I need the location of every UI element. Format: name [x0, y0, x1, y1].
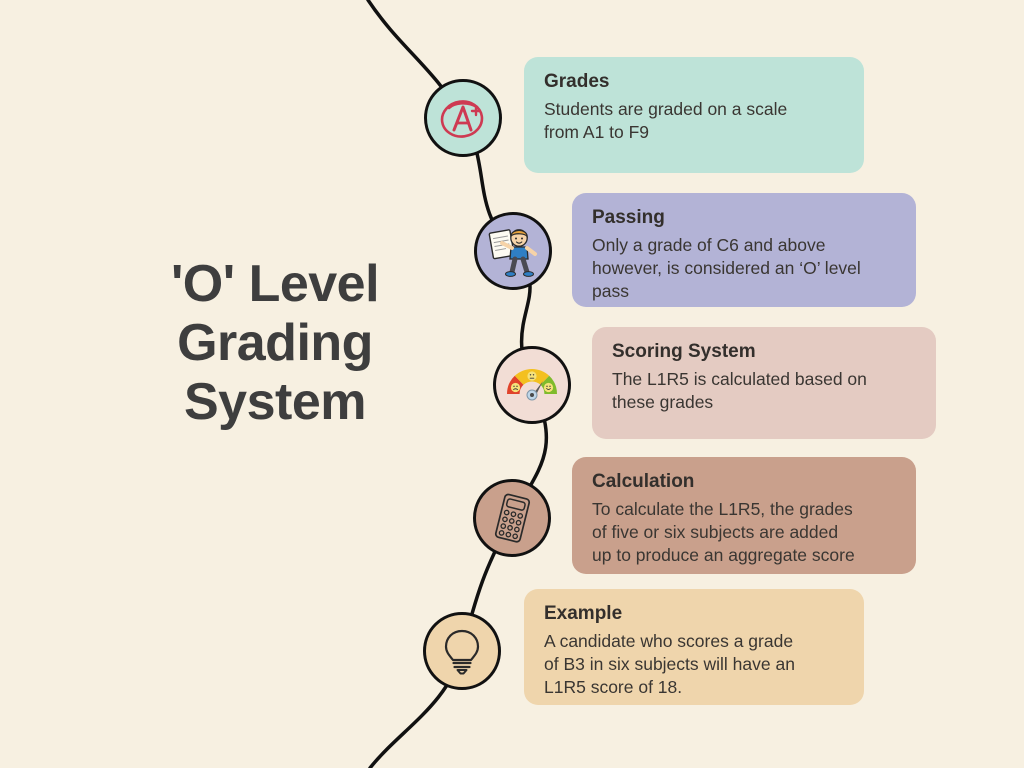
step-card-example: Example A candidate who scores a grade o…: [524, 589, 864, 705]
page-title: 'O' Level Grading System: [130, 255, 420, 431]
a-plus-grade-icon: [424, 79, 502, 157]
step-card-calculation: Calculation To calculate the L1R5, the g…: [572, 457, 916, 574]
student-with-paper-icon: [474, 212, 552, 290]
step-body: Only a grade of C6 and above however, is…: [592, 234, 896, 304]
step-card-scoring: Scoring System The L1R5 is calculated ba…: [592, 327, 936, 439]
step-title: Example: [544, 603, 844, 626]
step-card-passing: Passing Only a grade of C6 and above how…: [572, 193, 916, 307]
step-body: To calculate the L1R5, the grades of fiv…: [592, 498, 896, 568]
step-card-grades: Grades Students are graded on a scale fr…: [524, 57, 864, 173]
step-title: Calculation: [592, 471, 896, 494]
lightbulb-icon: [423, 612, 501, 690]
step-title: Grades: [544, 71, 844, 94]
step-body: The L1R5 is calculated based on these gr…: [612, 368, 916, 415]
step-body: A candidate who scores a grade of B3 in …: [544, 630, 844, 700]
gauge-meter-icon: [493, 346, 571, 424]
calculator-icon: [473, 479, 551, 557]
infographic-canvas: 'O' Level Grading System Grades Students…: [0, 0, 1024, 768]
step-body: Students are graded on a scale from A1 t…: [544, 98, 844, 145]
step-title: Scoring System: [612, 341, 916, 364]
step-title: Passing: [592, 207, 896, 230]
